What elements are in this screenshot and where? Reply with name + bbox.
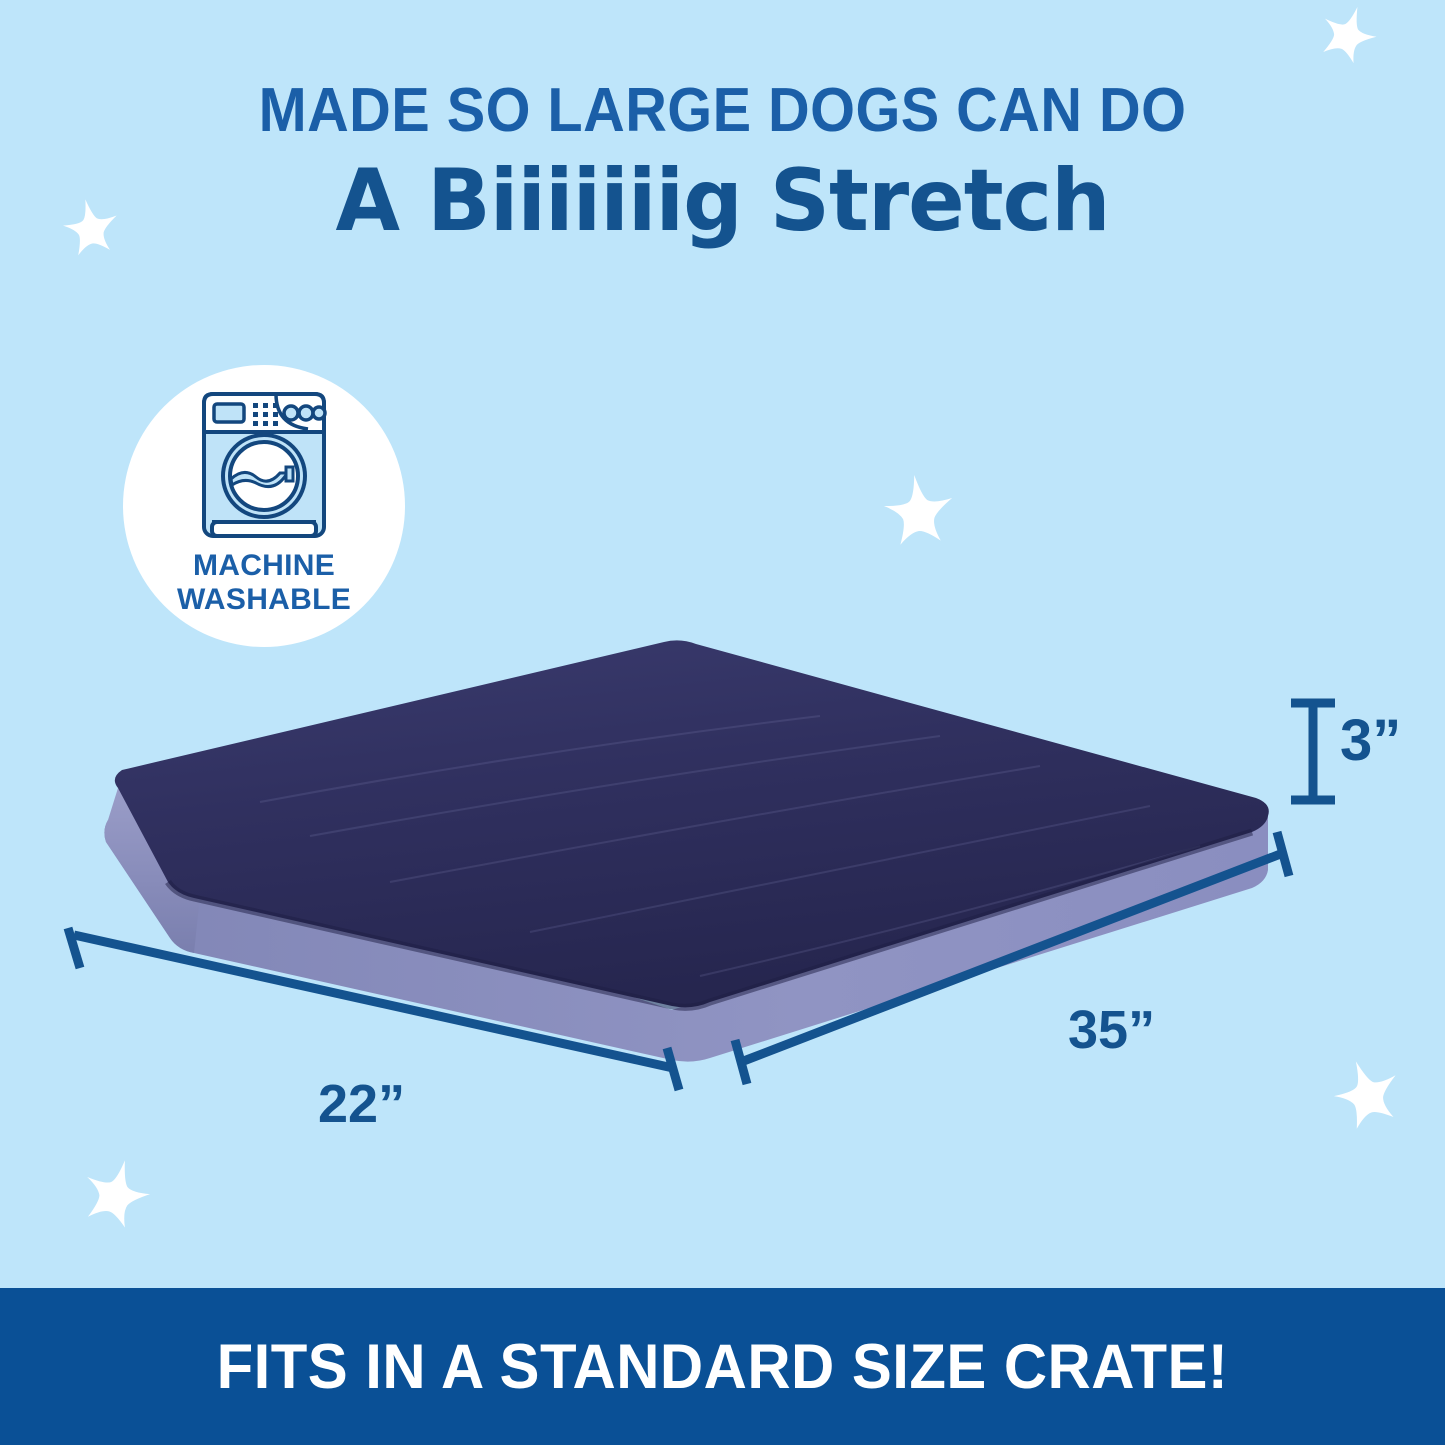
bottom-banner: FITS IN A STANDARD SIZE CRATE! xyxy=(0,1288,1445,1445)
length-dimension-label: 35” xyxy=(1068,999,1155,1061)
dog-bed-product-image xyxy=(60,620,1350,1120)
badge-label-line-1: MACHINE xyxy=(177,549,351,583)
height-dimension-label: 3” xyxy=(1340,707,1401,774)
washing-machine-icon xyxy=(198,389,330,541)
star-icon xyxy=(72,1147,162,1237)
star-icon xyxy=(1310,0,1388,72)
infographic-canvas: MADE SO LARGE DOGS CAN DO A Biiiiiiig St… xyxy=(0,0,1445,1445)
star-icon xyxy=(875,465,963,553)
headline-line-2: A Biiiiiiig Stretch xyxy=(22,155,1424,248)
width-dimension-label: 22” xyxy=(318,1073,405,1135)
headline-line-1: MADE SO LARGE DOGS CAN DO xyxy=(51,78,1395,143)
badge-label: MACHINE WASHABLE xyxy=(177,549,351,616)
banner-text: FITS IN A STANDARD SIZE CRATE! xyxy=(217,1331,1229,1403)
machine-washable-badge: MACHINE WASHABLE xyxy=(123,365,405,647)
badge-label-line-2: WASHABLE xyxy=(177,583,351,617)
headline-block: MADE SO LARGE DOGS CAN DO A Biiiiiiig St… xyxy=(0,78,1445,248)
